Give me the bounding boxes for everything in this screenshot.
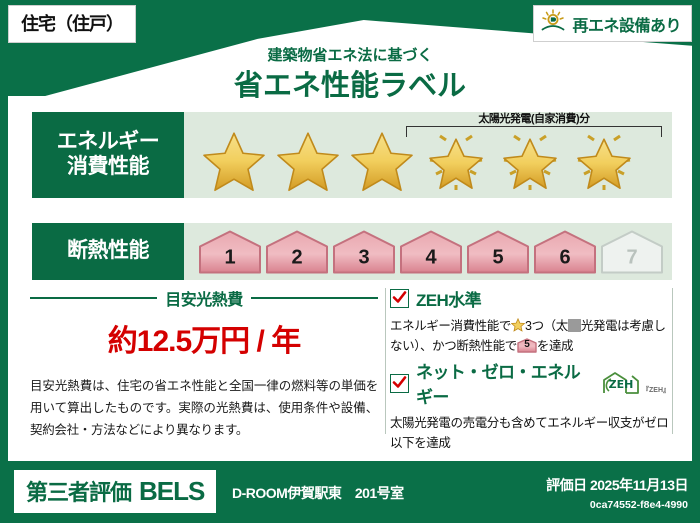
insulation-house-5: 5: [466, 229, 530, 274]
insulation-level-label: 6: [559, 246, 570, 274]
star-rating: [198, 126, 640, 196]
star-filled: [198, 126, 270, 196]
criterion-net-zero-energy: ネット・ゼロ・エネルギー ZEH 『ZEH』 太陽光発電の売電分も含めてエネルギ…: [390, 358, 670, 454]
energy-performance-body: 太陽光発電(自家消費)分: [184, 112, 672, 198]
insulation-performance-row: 断熱性能 1 2 3: [32, 223, 672, 280]
checkbox-checked-icon: [390, 289, 409, 308]
star-filled: [346, 126, 418, 196]
estimated-utility-cost-block: 目安光熱費 約12.5万円 / 年 目安光熱費は、住宅の省エネ性能と全国一律の燃…: [30, 286, 378, 442]
energy-caption-line2: 消費性能: [67, 155, 149, 180]
renewable-badge-label: 再エネ設備あり: [572, 12, 681, 36]
criterion-net-zero-header: ネット・ゼロ・エネルギー ZEH 『ZEH』: [390, 358, 670, 408]
insulation-level-inline-value: 5: [517, 337, 537, 353]
criterion-text-mid: 3つ（太: [525, 319, 568, 333]
insulation-level-label: 2: [291, 246, 302, 274]
insulation-level-inline-badge: 5: [517, 338, 537, 353]
insulation-house-3: 3: [332, 229, 396, 274]
bels-prefix: 第三者評価: [26, 475, 131, 507]
zeh-logo: ZEH 『ZEH』: [601, 371, 670, 395]
insulation-house-4: 4: [399, 229, 463, 274]
cost-note: 目安光熱費は、住宅の省エネ性能と全国一律の燃料等の単価を用いて算出したものです。…: [30, 376, 378, 442]
property-name: D-ROOM伊賀駅東 201号室: [232, 483, 404, 503]
cost-heading: 目安光熱費: [30, 286, 378, 310]
vertical-divider-left: [385, 288, 386, 434]
criterion-text-pre: エネルギー消費性能で: [390, 319, 511, 333]
criterion-zeh-level-body: エネルギー消費性能で3つ（太光発電は考慮しない）、かつ断熱性能で5を達成: [390, 316, 670, 357]
bels-brand: BELS: [139, 476, 204, 507]
insulation-level-label: 5: [492, 246, 503, 274]
insulation-house-2: 2: [265, 229, 329, 274]
label-title: 省エネ性能ラベル: [0, 62, 700, 104]
sun-icon: [540, 9, 566, 38]
criterion-zeh-level-header: ZEH水準: [390, 286, 670, 311]
energy-caption-line1: エネルギー: [57, 130, 160, 155]
energy-label-root: 住宅（住戸） 再エネ設備あり 建築物省エネ法に基づく 省エネ性能ラベル: [0, 0, 700, 523]
evaluation-date: 評価日 2025年11月13日: [546, 475, 688, 495]
checkbox-checked-icon: [390, 374, 409, 393]
insulation-performance-body: 1 2 3 4 5: [184, 223, 672, 280]
insulation-performance-caption: 断熱性能: [32, 223, 184, 280]
insulation-house-7: 7: [600, 229, 664, 274]
criterion-net-zero-title: ネット・ゼロ・エネルギー: [416, 358, 591, 408]
insulation-house-6: 6: [533, 229, 597, 274]
cost-value: 約12.5万円 / 年: [30, 316, 378, 360]
star-filled: [272, 126, 344, 196]
insulation-level-scale: 1 2 3 4 5: [198, 229, 664, 274]
insulation-level-label: 1: [224, 246, 235, 274]
criterion-zeh-level-title: ZEH水準: [416, 286, 481, 311]
insulation-level-label: 4: [425, 246, 436, 274]
renewable-energy-badge: 再エネ設備あり: [533, 5, 692, 42]
star-solar: [494, 126, 566, 196]
solar-bracket-label: 太陽光発電(自家消費)分: [402, 110, 666, 126]
criterion-text-post: を達成: [537, 339, 573, 353]
cost-rule-left: [30, 297, 157, 299]
energy-performance-row: エネルギー 消費性能 太陽光発電(自家消費)分: [32, 112, 672, 198]
criterion-net-zero-body: 太陽光発電の売電分も含めてエネルギー収支がゼロ以下を達成: [390, 413, 670, 454]
vertical-divider-right: [672, 288, 673, 434]
cost-rule-right: [251, 297, 378, 299]
criterion-zeh-level: ZEH水準 エネルギー消費性能で3つ（太光発電は考慮しない）、かつ断熱性能で5を…: [390, 286, 670, 357]
house-type-chip: 住宅（住戸）: [8, 5, 136, 43]
energy-performance-caption: エネルギー 消費性能: [32, 112, 184, 198]
star-solar: [420, 126, 492, 196]
insulation-level-label: 3: [358, 246, 369, 274]
bels-badge: 第三者評価 BELS: [14, 470, 216, 513]
insulation-level-label: 7: [626, 246, 637, 274]
star-solar: [568, 126, 640, 196]
insulation-house-1: 1: [198, 229, 262, 274]
evaluation-id: 0ca74552-f8e4-4990: [590, 499, 688, 511]
star-inline-icon: [511, 318, 525, 332]
cost-heading-text: 目安光熱費: [165, 286, 243, 310]
redacted-character: [568, 319, 581, 332]
svg-text:ZEH: ZEH: [609, 378, 634, 391]
zeh-logo-caption: 『ZEH』: [642, 385, 670, 395]
